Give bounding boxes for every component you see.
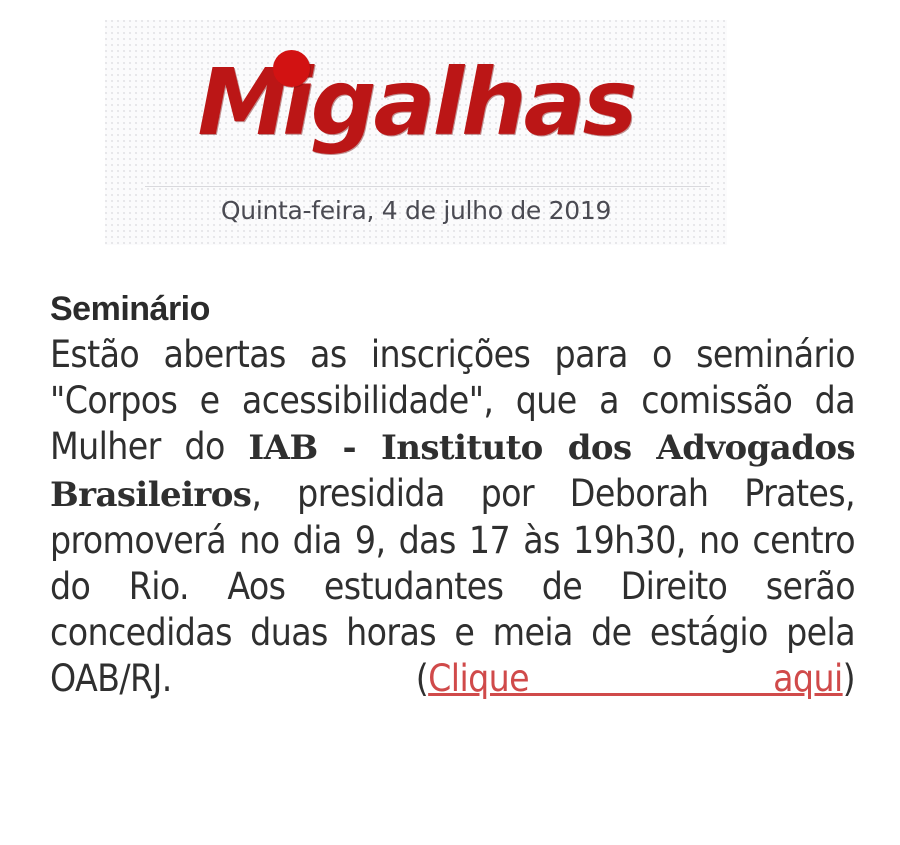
article-body: Estão abertas as inscrições para o semin… (50, 332, 855, 748)
header-date: Quinta-feira, 4 de julho de 2019 (105, 196, 727, 225)
article-title: Seminário (50, 288, 855, 330)
newsletter-header: Migalhas Quinta-feira, 4 de julho de 201… (105, 20, 727, 245)
article: Seminário Estão abertas as inscrições pa… (50, 288, 855, 748)
paren-close: ) (843, 657, 855, 700)
header-divider (145, 186, 710, 187)
migalhas-logo-rest: igalhas (282, 49, 634, 156)
logo-dot-icon (273, 50, 310, 87)
migalhas-logo[interactable]: Migalhas (198, 28, 635, 178)
clique-aqui-link[interactable]: Clique aqui (428, 657, 842, 700)
migalhas-logo-initial: M (198, 49, 283, 156)
brand-logo-wrap[interactable]: Migalhas (105, 28, 727, 178)
paren-open: ( (416, 657, 428, 700)
